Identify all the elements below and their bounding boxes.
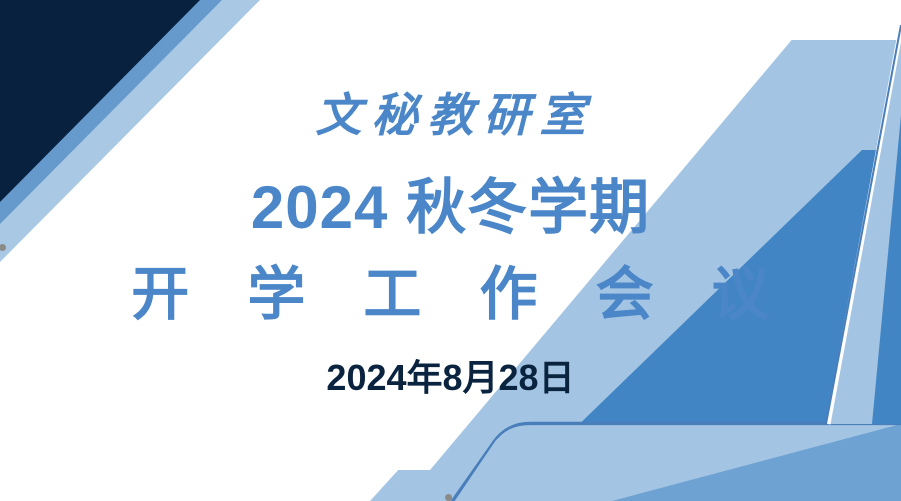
slide-text-block: 文秘教研室 2024 秋冬学期 开 学 工 作 会 议 2024年8月28日 — [0, 0, 901, 501]
meeting-title: 开 学 工 作 会 议 — [0, 266, 901, 324]
term-title: 2024 秋冬学期 — [0, 178, 901, 238]
presentation-slide: 文秘教研室 2024 秋冬学期 开 学 工 作 会 议 2024年8月28日 — [0, 0, 901, 501]
organization-name: 文秘教研室 — [0, 92, 901, 138]
image-speck-bottom — [445, 494, 452, 501]
event-date: 2024年8月28日 — [0, 360, 901, 396]
